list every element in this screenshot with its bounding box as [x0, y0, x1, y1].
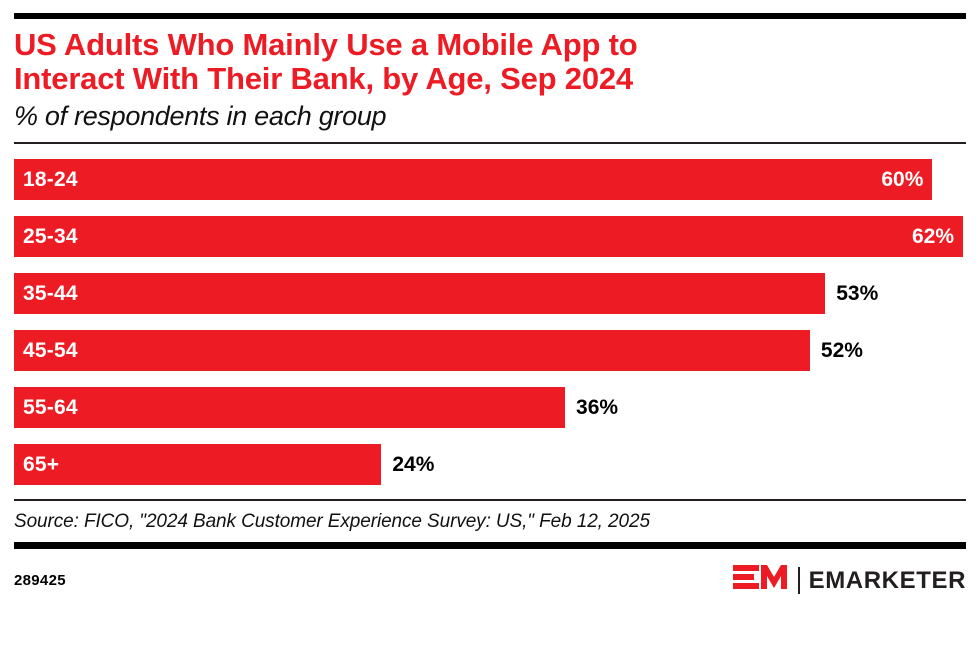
- bar-row: 25-3462%: [14, 216, 966, 257]
- brand-name: EMARKETER: [809, 569, 966, 593]
- bar-row: 35-4453%: [14, 273, 966, 314]
- chart-header: US Adults Who Mainly Use a Mobile App to…: [14, 19, 966, 131]
- chart-card: US Adults Who Mainly Use a Mobile App to…: [0, 13, 980, 668]
- chart-footer: 289425 EMARKETER: [14, 549, 966, 598]
- bar-value-label: 60%: [881, 169, 923, 190]
- bar-value-label: 36%: [576, 387, 618, 428]
- bar-65+: 65+: [14, 444, 381, 485]
- bar-category-label: 25-34: [23, 226, 78, 247]
- bar-row: 18-2460%: [14, 159, 966, 200]
- bar-value-label: 24%: [392, 444, 434, 485]
- bar-value-label: 53%: [836, 273, 878, 314]
- chart-subtitle: % of respondents in each group: [14, 101, 966, 131]
- source-text: Source: FICO, "2024 Bank Customer Experi…: [14, 501, 966, 542]
- chart-title: US Adults Who Mainly Use a Mobile App to…: [14, 28, 966, 96]
- bar-category-label: 18-24: [23, 169, 78, 190]
- em-logo-icon: [733, 563, 789, 598]
- bar-55-64: 55-64: [14, 387, 565, 428]
- bar-35-44: 35-44: [14, 273, 825, 314]
- bar-18-24: 18-2460%: [14, 159, 932, 200]
- brand-lockup: EMARKETER: [733, 563, 966, 598]
- source-bottom-rule: [14, 542, 966, 549]
- bar-row: 55-6436%: [14, 387, 966, 428]
- bar-row: 65+24%: [14, 444, 966, 485]
- bar-chart-plot: 18-2460%25-3462%35-4453%45-5452%55-6436%…: [14, 144, 966, 485]
- bar-category-label: 65+: [23, 454, 59, 475]
- brand-divider: [798, 567, 800, 594]
- bar-category-label: 45-54: [23, 340, 78, 361]
- bar-value-label: 62%: [912, 226, 954, 247]
- source-block: Source: FICO, "2024 Bank Customer Experi…: [14, 499, 966, 549]
- bar-category-label: 35-44: [23, 283, 78, 304]
- bar-row: 45-5452%: [14, 330, 966, 371]
- bar-category-label: 55-64: [23, 397, 78, 418]
- bar-25-34: 25-3462%: [14, 216, 963, 257]
- chart-id: 289425: [14, 572, 66, 589]
- bar-value-label: 52%: [821, 330, 863, 371]
- bar-45-54: 45-54: [14, 330, 810, 371]
